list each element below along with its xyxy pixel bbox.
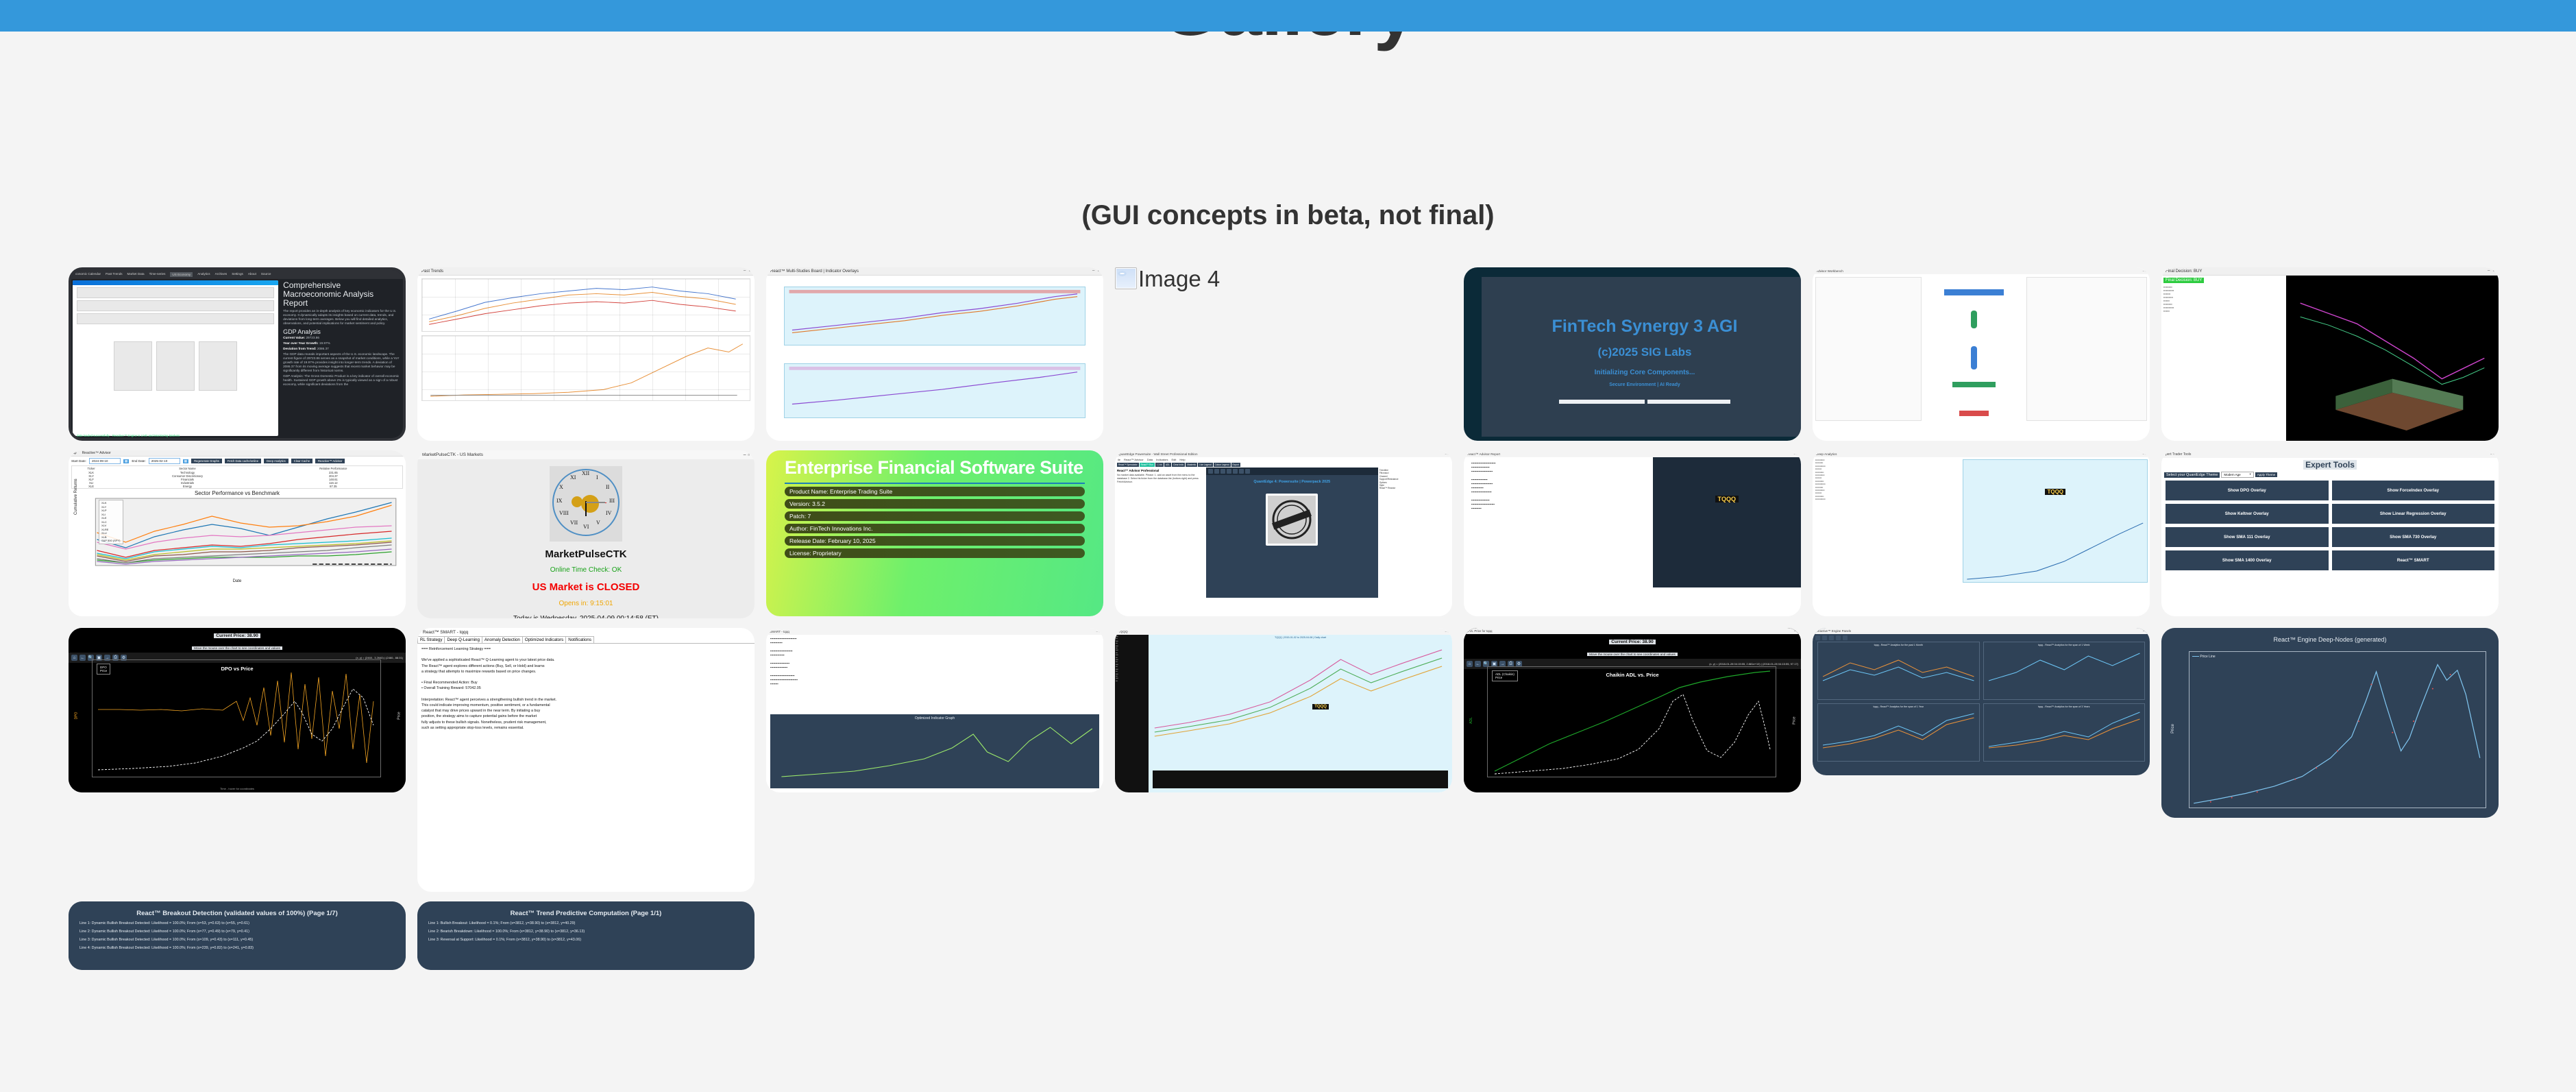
stamp-icon bbox=[1271, 498, 1313, 541]
chart-legend: DPO Price bbox=[97, 664, 110, 675]
menu-item[interactable]: Data bbox=[1147, 458, 1153, 461]
optimized-indicator-window: SMART - tqqq − ▫ ▪▪▪▪▪▪▪▪▪▪▪▪▪▪▪▪▪▪▪▪▪▪▪… bbox=[766, 628, 1103, 792]
gallery-item-dark-3d-surface[interactable]: Final Decision: BUY − ▫ Final Decision: … bbox=[2161, 267, 2499, 441]
menu-item[interactable]: Past Trends bbox=[106, 272, 123, 277]
menu-item[interactable]: Help bbox=[1179, 458, 1185, 461]
gallery-item-react-smart-rl[interactable]: React™ SMART - tqqq RL Strategy Deep Q-L… bbox=[417, 628, 755, 892]
y-axis-label-left: ADL bbox=[1469, 717, 1473, 724]
start-date-label: Start Date: bbox=[71, 459, 86, 463]
prediction-line: Line 3: Reversal at Support: Likelihood … bbox=[428, 938, 755, 942]
navbar[interactable] bbox=[1813, 634, 2150, 642]
toolbar-button[interactable]: Mastertic bbox=[1186, 463, 1197, 467]
forward-arrow-icon[interactable] bbox=[1233, 469, 1238, 474]
window-titlebar: pert Trader Tools − ▫ bbox=[2161, 450, 2499, 458]
menu-item[interactable]: Reactive™ Advisor bbox=[82, 451, 111, 455]
market-status: US Market is CLOSED bbox=[417, 581, 755, 593]
window-titlebar: Reactive™ Engine Panels − ▫ bbox=[1813, 628, 2150, 634]
toolbar-button[interactable]: ADL bbox=[1164, 463, 1171, 467]
opens-in-timer: Opens in: 9:15:01 bbox=[417, 600, 755, 607]
table-row[interactable]: XLEEnergy87.35 bbox=[72, 485, 402, 488]
window-title: MarketPulseCTK - US Markets bbox=[422, 452, 483, 457]
ticker-badge: TQQQ bbox=[1312, 704, 1329, 709]
window-controls[interactable]: − ▫ bbox=[1096, 630, 1100, 633]
chaikin-chart-window: L vs. Price for tqqq − ▫ Current Price: … bbox=[1464, 628, 1801, 792]
window-controls[interactable]: − ▫ bbox=[743, 452, 750, 458]
show-sma-111-overlay-button[interactable]: Show SMA 111 Overlay bbox=[2166, 527, 2329, 547]
gallery-page: Gallery (GUI concepts in beta, not final… bbox=[0, 0, 2576, 1092]
menu-item[interactable]: Indicators bbox=[1156, 458, 1168, 461]
legend-entry: Price bbox=[100, 669, 107, 672]
window-title: QuantEdge Powersuite - Wall Street Profe… bbox=[1118, 452, 1198, 456]
chart-legend: Price Line bbox=[2192, 655, 2216, 659]
chart-plot-area: DPO Price bbox=[92, 659, 381, 777]
toolbar[interactable]: React™ Speculator React™ Run I | Vol ADL… bbox=[1115, 462, 1452, 468]
report-title: Comprehensive Macroeconomic Analysis Rep… bbox=[283, 281, 400, 308]
menu-item-selected[interactable]: US Economy bbox=[170, 272, 193, 277]
window-controls[interactable]: − ▫ bbox=[2490, 452, 2494, 457]
deep-nodes-plot bbox=[2189, 652, 2486, 808]
legend-entry: Price bbox=[1495, 676, 1514, 679]
report-text: ▪▪▪▪▪▪▪▪▪▪▪▪▪▪▪▪▪▪▪▪▪▪▪▪▪▪▪▪▪▪▪▪▪▪▪▪▪▪▪▪… bbox=[770, 637, 1099, 686]
cyan-plot-2 bbox=[785, 364, 1085, 417]
sun-icon-small bbox=[572, 496, 582, 507]
window-titlebar: MarketPulseCTK - US Markets − ▫ bbox=[417, 450, 755, 459]
zoom-icon[interactable] bbox=[1829, 635, 1834, 640]
quantedge-window: QuantEdge Powersuite - Wall Street Profe… bbox=[1115, 450, 1452, 616]
reactive-advisor-button[interactable]: Reactive™ Advisor bbox=[315, 459, 345, 463]
gallery-item-advisor-report[interactable]: React™ Advisor Report − ▫ ▪▪▪▪▪▪▪▪▪▪▪▪▪▪… bbox=[1464, 450, 1801, 616]
window-controls[interactable]: − ▫ bbox=[1794, 629, 1798, 633]
home-icon[interactable] bbox=[1208, 469, 1213, 474]
regenerate-graphs-button[interactable]: Regenerate Graphs bbox=[191, 459, 222, 463]
back-arrow-icon[interactable]: ← bbox=[79, 655, 86, 661]
menu-item[interactable]: Source bbox=[261, 272, 271, 277]
menu-item[interactable]: ile bbox=[1118, 458, 1120, 461]
window-controls[interactable]: − ▫ bbox=[744, 269, 750, 274]
clock-numeral: II bbox=[606, 484, 609, 490]
splash-env-line: Secure Environment | AI Ready bbox=[1482, 383, 1801, 387]
panel-title: React™ Breakout Detection (validated val… bbox=[69, 910, 406, 917]
theme-select[interactable]: Modern Age bbox=[2221, 472, 2253, 478]
window-title: Reactive™ Engine Panels bbox=[1816, 629, 1851, 633]
window-controls[interactable]: − ▫ bbox=[2142, 269, 2146, 273]
clock-hour-hand bbox=[585, 501, 587, 516]
window-controls[interactable]: − ▫ bbox=[2488, 269, 2494, 274]
gallery-item-enterprise-suite[interactable]: Enterprise Financial Software Suite Prod… bbox=[766, 450, 1103, 616]
report-para: The GDP data reveals important aspects o… bbox=[283, 352, 400, 373]
clock-numeral: I bbox=[596, 474, 598, 481]
scanner-chart bbox=[1149, 639, 1452, 742]
page-subtitle: (GUI concepts in beta, not final) bbox=[0, 200, 2576, 231]
save-icon[interactable] bbox=[1239, 469, 1244, 474]
info-row: Patch: 7 bbox=[785, 511, 1085, 521]
gallery-grid: conomic Calendar Past Trends Market Data… bbox=[69, 267, 2536, 970]
home-icon[interactable] bbox=[1815, 635, 1820, 640]
stat-row: Deviation from Trend: 2086.37 bbox=[283, 347, 400, 351]
current-price-label: Current Price: 38.90 bbox=[1609, 640, 1655, 644]
splash-status: Initializing Core Components... bbox=[1482, 369, 1801, 376]
clock-numeral: IX bbox=[556, 498, 562, 504]
chart-plot-area: Price Line bbox=[2189, 651, 2486, 808]
gallery-item-fintech-splash[interactable]: FinTech Synergy 3 AGI (c)2025 SIG Labs I… bbox=[1464, 267, 1801, 441]
scanner-sidebar: ▪▪▪▪▪▪▪▪▪▪▪▪▪▪▪▪▪▪▪▪▪▪▪▪▪▪▪▪▪▪▪▪▪▪▪▪▪▪▪▪… bbox=[1115, 635, 1149, 792]
chart-navbar[interactable] bbox=[1206, 468, 1378, 475]
prediction-line: Line 1: Bullish Breakout: Likelihood = 0… bbox=[428, 921, 755, 925]
gallery-item-sector-performance[interactable]: up Reactive™ Advisor Start Date: 2024-09… bbox=[69, 450, 406, 616]
menu-item[interactable]: up bbox=[73, 451, 77, 455]
chart-hint: Move the mouse over the chart to see coo… bbox=[192, 646, 282, 650]
column-header: Sector Name bbox=[110, 466, 265, 471]
menu-item[interactable]: Analytics bbox=[197, 272, 210, 277]
3d-surface-plot bbox=[2286, 276, 2499, 441]
deep-analytics-window: Deep Analytics − ▫ ▪▪▪▪▪▪▪▪▪▪▪▪▪▪▪▪▪▪▪▪▪… bbox=[1813, 450, 2150, 616]
calendar-icon[interactable]: ▦ bbox=[183, 459, 188, 463]
window-controls[interactable]: − ▫ bbox=[1793, 452, 1798, 456]
title-divider bbox=[785, 483, 1085, 484]
cyan-plot-1 bbox=[785, 287, 1085, 345]
tab-deep-q-learning[interactable]: Deep Q-Learning bbox=[444, 636, 482, 643]
scanner-window: TQQQ − ▫ ▪▪▪▪▪▪▪▪▪▪▪▪▪▪▪▪▪▪▪▪▪▪▪▪▪▪▪▪▪▪▪… bbox=[1115, 628, 1452, 792]
clock-numeral: XI bbox=[570, 474, 576, 481]
gallery-item-quantedge-powersuite[interactable]: QuantEdge Powersuite - Wall Street Profe… bbox=[1115, 450, 1452, 616]
macro-menu-tabs[interactable]: conomic Calendar Past Trends Market Data… bbox=[71, 270, 403, 279]
volume-subplot bbox=[1153, 771, 1448, 788]
window-title: SMART - tqqq bbox=[770, 630, 789, 633]
menu-bar[interactable]: ile React™ Advisor Data Indicators Edit … bbox=[1115, 457, 1452, 462]
show-sma-1400-overlay-button[interactable]: Show SMA 1400 Overlay bbox=[2166, 550, 2329, 570]
pan-icon[interactable] bbox=[1227, 469, 1231, 474]
window-titlebar: React™ SMART - tqqq bbox=[417, 628, 755, 636]
deep-nodes-chart-window: React™ Engine Deep-Nodes (generated) bbox=[2161, 628, 2499, 818]
tab-anomaly-detection[interactable]: Anomaly Detection bbox=[482, 636, 523, 643]
window-titlebar: SMART - tqqq − ▫ bbox=[766, 628, 1103, 635]
multi-panel-window: Advisor Workbench − ▫ bbox=[1813, 267, 2150, 441]
tab-notifications[interactable]: Notifications bbox=[565, 636, 594, 643]
right-panel: Trendline Fibonacci Channel Support/Resi… bbox=[1378, 468, 1452, 598]
splash-screen: FinTech Synergy 3 AGI (c)2025 SIG Labs I… bbox=[1482, 277, 1801, 437]
panel-title: React™ Trend Predictive Computation (Pag… bbox=[417, 910, 755, 917]
chart-plot-area: ADL (Chaikin) Price bbox=[1487, 666, 1776, 777]
window-titlebar: TQQQ − ▫ bbox=[1115, 628, 1452, 635]
clock-numeral: X bbox=[559, 484, 563, 490]
column-header: Relative Performance bbox=[265, 466, 402, 471]
gallery-item-marketpulse[interactable]: MarketPulseCTK - US Markets − ▫ XII I II… bbox=[417, 450, 755, 618]
back-arrow-icon[interactable] bbox=[1214, 469, 1219, 474]
menu-item[interactable]: About bbox=[248, 272, 256, 277]
clock-numeral: VIII bbox=[559, 510, 569, 516]
window-title: Advisor Workbench bbox=[1816, 269, 1843, 273]
timeseries-window: Past Trends − ▫ bbox=[417, 267, 755, 441]
decision-badge: Final Decision: BUY bbox=[2163, 278, 2204, 283]
stat-row: Current Value: 29723.86 bbox=[283, 336, 400, 340]
chart-legend: ADL (Chaikin) Price bbox=[1492, 670, 1518, 681]
adl-plot bbox=[1488, 667, 1776, 777]
x-axis-label: Date bbox=[69, 579, 406, 583]
broken-image-icon bbox=[1115, 267, 1137, 289]
apply-theme-button[interactable]: Apply Theme bbox=[2255, 472, 2277, 477]
window-titlebar: Past Trends − ▫ bbox=[417, 267, 755, 276]
date-toolbar: Start Date: 2024-09-10 ▦ End Date: 2025-… bbox=[69, 457, 406, 465]
clock-minute-hand bbox=[586, 502, 605, 503]
gallery-item-macro-report[interactable]: conomic Calendar Past Trends Market Data… bbox=[69, 267, 406, 441]
show-forceindex-overlay-button[interactable]: Show ForceIndex Overlay bbox=[2332, 481, 2495, 500]
window-titlebar: React™ Multi-Studies Board | Indicator O… bbox=[766, 267, 1103, 276]
panel-heading: Expert Tools bbox=[2161, 460, 2499, 470]
clock-numeral: V bbox=[596, 520, 600, 526]
clock-numeral: VII bbox=[570, 520, 578, 526]
detection-line: Line 3: Dynamic Bullish Breakout Detecte… bbox=[79, 938, 406, 942]
tab-strip[interactable]: RL Strategy Deep Q-Learning Anomaly Dete… bbox=[417, 636, 755, 644]
toolbar-button[interactable]: Clear Indic bbox=[1172, 463, 1185, 467]
show-sma-730-overlay-button[interactable]: Show SMA 730 Overlay bbox=[2332, 527, 2495, 547]
menu-item[interactable]: Edit bbox=[1172, 458, 1177, 461]
gallery-item-deep-nodes[interactable]: React™ Engine Deep-Nodes (generated) bbox=[2161, 628, 2499, 818]
wall-street-approved-stamp bbox=[1266, 494, 1318, 546]
window-titlebar: React™ Advisor Report − ▫ bbox=[1464, 450, 1801, 457]
window-title: Past Trends bbox=[421, 269, 443, 274]
y-axis-label-left: DPO bbox=[74, 712, 78, 719]
gallery-item-quad-analytics[interactable]: Reactive™ Engine Panels − ▫ tqqq - React… bbox=[1813, 628, 2150, 775]
broken-image-alt-text: Image 4 bbox=[1138, 267, 1220, 291]
window-title: TQQQ bbox=[1118, 630, 1128, 633]
start-date-input[interactable]: 2024-09-10 bbox=[89, 458, 121, 464]
dpo-chart-window: Current Price: 38.90 Move the mouse over… bbox=[69, 628, 406, 792]
chart-title: QuantEdge 4: Powersuite | Powerpack 2025 bbox=[1206, 480, 1378, 484]
end-date-input[interactable]: 2025-02-10 bbox=[149, 458, 180, 464]
toolbar-button[interactable]: Colour Legend bbox=[1214, 463, 1231, 467]
chart-title: React™ Engine Deep-Nodes (generated) bbox=[2161, 636, 2499, 643]
clear-cache-button[interactable]: Clear Cache bbox=[291, 459, 312, 463]
gallery-item-timeseries[interactable]: Past Trends − ▫ bbox=[417, 267, 755, 441]
current-price-label: Current Price: 38.90 bbox=[214, 633, 260, 638]
y-axis-label-right: Price bbox=[1792, 716, 1796, 724]
window-titlebar: Deep Analytics − ▫ bbox=[1813, 450, 2150, 457]
prediction-line: Line 2: Bearish Breakdown: Likelihood = … bbox=[428, 930, 755, 934]
settings-icon[interactable] bbox=[1245, 469, 1250, 474]
analytics-panel: tqqq - React™ Analytics for the span of … bbox=[1983, 703, 2146, 762]
gallery-item-multi-panel-desktop[interactable]: Advisor Workbench − ▫ bbox=[1813, 267, 2150, 441]
clock-numeral: III bbox=[609, 498, 615, 504]
broken-image-wrapper: Image 4 bbox=[1115, 267, 1452, 291]
pan-icon[interactable] bbox=[1836, 635, 1841, 640]
window-title: React™ Multi-Studies Board | Indicator O… bbox=[770, 269, 859, 274]
y-axis-label: Price bbox=[2171, 724, 2175, 733]
window-titlebar: Advisor Workbench − ▫ bbox=[1813, 267, 2150, 274]
save-icon[interactable] bbox=[1843, 635, 1848, 640]
splash-app-name: FinTech Synergy 3 AGI bbox=[1482, 317, 1801, 337]
home-icon[interactable]: ⌂ bbox=[71, 655, 77, 661]
info-row: Version: 3.5.2 bbox=[785, 499, 1085, 509]
gallery-item-optimized-indicator[interactable]: SMART - tqqq − ▫ ▪▪▪▪▪▪▪▪▪▪▪▪▪▪▪▪▪▪▪▪▪▪▪… bbox=[766, 628, 1103, 792]
window-menubar[interactable]: up Reactive™ Advisor bbox=[69, 450, 406, 457]
surface-window: Final Decision: BUY − ▫ Final Decision: … bbox=[2161, 267, 2499, 441]
splash-progress-bar bbox=[1559, 400, 1730, 404]
macro-charts-pane bbox=[73, 280, 278, 436]
react-smart-button[interactable]: React™ SMART bbox=[2332, 550, 2495, 570]
clock-numeral: XII bbox=[582, 470, 589, 476]
menu-item[interactable]: Time-series bbox=[149, 272, 166, 277]
ticker-badge: TQQQ bbox=[1715, 496, 1739, 502]
toolbar-button[interactable]: React™ Speculator bbox=[1117, 463, 1139, 467]
sector-table: Ticker Sector Name Relative Performance … bbox=[72, 466, 402, 488]
show-keltner-overlay-button[interactable]: Show Keltner Overlay bbox=[2166, 504, 2329, 524]
toolbar-button-active[interactable]: React™ Run bbox=[1140, 463, 1155, 467]
sector-performance-window: up Reactive™ Advisor Start Date: 2024-09… bbox=[69, 450, 406, 616]
window-controls[interactable]: − ▫ bbox=[1445, 630, 1449, 633]
menu-item[interactable]: Market Data bbox=[127, 272, 145, 277]
chart-title: Sector Performance vs Benchmark bbox=[69, 490, 406, 496]
macro-report-window: conomic Calendar Past Trends Market Data… bbox=[71, 270, 403, 438]
analytics-list: ▪▪▪▪▪▪▪▪▪▪▪▪▪▪▪▪▪▪▪▪▪▪▪▪▪▪▪▪▪▪▪▪▪▪▪▪▪▪▪▪… bbox=[1813, 457, 1961, 585]
clock-numeral: IV bbox=[606, 510, 611, 516]
end-date-label: End Date: bbox=[132, 459, 145, 463]
trend-predictive-panel: React™ Trend Predictive Computation (Pag… bbox=[417, 901, 755, 970]
dpo-plot bbox=[93, 660, 380, 777]
info-row: License: Proprietary bbox=[785, 548, 1085, 558]
window-title: L vs. Price for tqqq bbox=[1467, 629, 1492, 633]
window-title: Deep Analytics bbox=[1816, 452, 1837, 456]
overlay-button-grid: Show DPO Overlay Show ForceIndex Overlay… bbox=[2161, 481, 2499, 570]
gallery-item-chaikin-adl[interactable]: L vs. Price for tqqq − ▫ Current Price: … bbox=[1464, 628, 1801, 792]
window-controls[interactable]: − ▫ bbox=[2143, 629, 2146, 633]
breakout-detection-panel: React™ Breakout Detection (validated val… bbox=[69, 901, 406, 970]
window-controls[interactable]: − ▫ bbox=[1445, 452, 1449, 456]
indicator-plot bbox=[770, 720, 1099, 781]
mini-chart bbox=[1963, 520, 2147, 582]
window-title: Final Decision: BUY bbox=[2166, 269, 2202, 274]
panel-tab[interactable]: React™ Reactor bbox=[1379, 487, 1451, 489]
detection-line: Line 2: Dynamic Bullish Breakout Detecte… bbox=[79, 930, 406, 934]
online-check: Online Time Check: OK bbox=[417, 566, 755, 574]
toolbar-button[interactable]: Export bbox=[1231, 463, 1240, 467]
fetch-data-button[interactable]: Fetch Data cache/online bbox=[225, 459, 261, 463]
zoom-icon[interactable] bbox=[1220, 469, 1225, 474]
x-axis-label: Time - hover for coordinates bbox=[69, 787, 406, 790]
clock-numeral: VI bbox=[583, 524, 589, 530]
table-header-row: Ticker Sector Name Relative Performance bbox=[72, 466, 402, 471]
gallery-item-expert-tools[interactable]: pert Trader Tools − ▫ Expert Tools Selec… bbox=[2161, 450, 2499, 616]
window-controls[interactable]: − ▫ bbox=[2142, 452, 2146, 456]
analytics-panel: tqqq - React™ Analytics for the span of … bbox=[1983, 642, 2146, 700]
cursor-coordinates: (x, y) = (2018-01-28 04:15:55, 2.881e+10… bbox=[1709, 662, 1798, 666]
theme-label: Select your QuantEdge Theme bbox=[2164, 472, 2220, 478]
home-icon[interactable]: ⌂ bbox=[1467, 661, 1473, 667]
gallery-item-deep-analytics-list[interactable]: Deep Analytics − ▫ ▪▪▪▪▪▪▪▪▪▪▪▪▪▪▪▪▪▪▪▪▪… bbox=[1813, 450, 2150, 616]
gallery-item-cyan-charts[interactable]: React™ Multi-Studies Board | Indicator O… bbox=[766, 267, 1103, 441]
report-section-title: GDP Analysis bbox=[283, 328, 400, 335]
tab-rl-strategy[interactable]: RL Strategy bbox=[417, 636, 445, 643]
advisor-text: No market data available. Please: 1. add… bbox=[1117, 474, 1204, 484]
gallery-item-scanner-tqqq[interactable]: TQQQ − ▫ ▪▪▪▪▪▪▪▪▪▪▪▪▪▪▪▪▪▪▪▪▪▪▪▪▪▪▪▪▪▪▪… bbox=[1115, 628, 1452, 792]
info-row: Release Date: February 10, 2025 bbox=[785, 536, 1085, 546]
cyan-charts-window: React™ Multi-Studies Board | Indicator O… bbox=[766, 267, 1103, 441]
y-axis-label-right: Price bbox=[397, 712, 401, 719]
info-row: Author: FinTech Innovations Inc. bbox=[785, 524, 1085, 533]
analytics-panel: tqqq - React™ Analytics for the past 1 M… bbox=[1817, 642, 1980, 700]
ticker-badge: TQQQ bbox=[2045, 489, 2065, 495]
window-title: React™ SMART - tqqq bbox=[423, 630, 468, 635]
window-titlebar: QuantEdge Powersuite - Wall Street Profe… bbox=[1115, 450, 1452, 457]
chart-title: Optimized Indicator Graph bbox=[770, 714, 1099, 720]
deep-analytics-button[interactable]: Deep Analytics bbox=[264, 459, 289, 463]
sun-icon-large bbox=[581, 495, 599, 513]
suite-title: Enterprise Financial Software Suite bbox=[785, 457, 1103, 478]
report-intro: The report provides an in-depth analysis… bbox=[283, 309, 400, 326]
theme-selector-row: Select your QuantEdge Theme Modern Age A… bbox=[2164, 472, 2499, 478]
macro-report-text: Comprehensive Macroeconomic Analysis Rep… bbox=[280, 279, 403, 437]
chart-hint: Move the mouse over the chart to see coo… bbox=[1587, 653, 1678, 656]
advisor-report-window: React™ Advisor Report − ▫ ▪▪▪▪▪▪▪▪▪▪▪▪▪▪… bbox=[1464, 450, 1801, 616]
current-date: Today is Wednesday, 2025-04-09 00:14:58 … bbox=[417, 615, 755, 618]
toolbar-button[interactable]: Live Legend bbox=[1198, 463, 1212, 467]
chart-legend: XLK XLY XLP XLI XLE XLC XLV XLRE XLU XLB… bbox=[99, 500, 123, 544]
y-axis-label: Cumulative Returns bbox=[74, 478, 78, 515]
show-dpo-overlay-button[interactable]: Show DPO Overlay bbox=[2166, 481, 2329, 500]
info-row: Product Name: Enterprise Trading Suite bbox=[785, 487, 1085, 496]
gallery-item-trend-predictive[interactable]: React™ Trend Predictive Computation (Pag… bbox=[417, 901, 755, 970]
window-title: React™ Advisor Report bbox=[1467, 452, 1500, 456]
detection-line: Line 1: Dynamic Bullish Breakout Detecte… bbox=[79, 921, 406, 925]
report-para: GDP Analysis: The Gross Domestic Product… bbox=[283, 374, 400, 387]
status-text: data loaded successfully - Reactive™ Eng… bbox=[77, 434, 180, 437]
menu-item[interactable]: Archives bbox=[215, 272, 228, 277]
column-header: Ticker bbox=[72, 466, 110, 471]
top-blue-bar bbox=[0, 0, 2576, 32]
gallery-item-dpo-price[interactable]: Current Price: 38.90 Move the mouse over… bbox=[69, 628, 406, 792]
window-controls[interactable]: − ▫ bbox=[1092, 269, 1099, 274]
window-title: pert Trader Tools bbox=[2166, 452, 2191, 457]
advisor-title: React™ Advisor Professional bbox=[1117, 469, 1204, 472]
sector-chart-plot bbox=[75, 497, 399, 574]
menu-item[interactable]: Settings bbox=[232, 272, 243, 277]
menu-item[interactable]: React™ Advisor bbox=[1124, 458, 1144, 461]
back-arrow-icon[interactable]: ← bbox=[1475, 661, 1481, 667]
splash-copyright: (c)2025 SIG Labs bbox=[1482, 345, 1801, 359]
rl-strategy-body: === Reinforcement Learning Strategy === … bbox=[417, 644, 755, 733]
gallery-item-broken-image[interactable]: Image 4 bbox=[1115, 267, 1452, 441]
window-titlebar: Final Decision: BUY − ▫ bbox=[2161, 267, 2499, 276]
legend-entry: S&P 500 (SPY) bbox=[101, 539, 121, 543]
analytics-panel: tqqq - React™ Analytics for the span of … bbox=[1817, 703, 1980, 762]
app-name: MarketPulseCTK bbox=[417, 548, 755, 560]
window-titlebar: L vs. Price for tqqq − ▫ bbox=[1464, 628, 1801, 634]
toolbar-button[interactable]: I | Vol bbox=[1155, 463, 1164, 467]
back-arrow-icon[interactable] bbox=[1822, 635, 1827, 640]
detection-line: Line 4: Dynamic Bullish Breakout Detecte… bbox=[79, 946, 406, 950]
gallery-item-breakout-detection[interactable]: React™ Breakout Detection (validated val… bbox=[69, 901, 406, 970]
show-linear-regression-overlay-button[interactable]: Show Linear Regression Overlay bbox=[2332, 504, 2495, 524]
legend-entry: Price Line bbox=[2200, 655, 2215, 659]
stat-row: Year over Year Growth: 19.97% bbox=[283, 341, 400, 345]
menu-item[interactable]: conomic Calendar bbox=[75, 272, 101, 277]
analog-clock-widget: XII I II III IV V VI VII VIII IX X XI bbox=[417, 466, 755, 542]
tab-optimized-indicators[interactable]: Optimized Indicators bbox=[522, 636, 566, 643]
calendar-icon[interactable]: ▦ bbox=[123, 459, 129, 463]
